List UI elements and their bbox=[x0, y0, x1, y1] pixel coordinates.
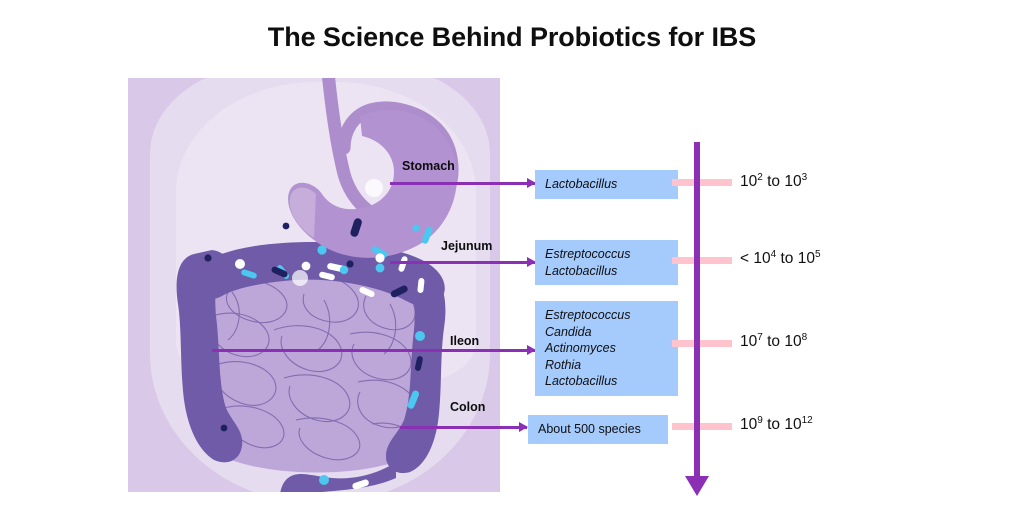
concentration-base: 10 bbox=[784, 333, 801, 350]
concentration-axis-line bbox=[694, 142, 700, 480]
species-name: Actinomyces bbox=[545, 340, 678, 357]
connector-line-stomach bbox=[672, 179, 732, 186]
species-box-ileon: Estreptococcus Candida Actinomyces Rothi… bbox=[535, 301, 678, 396]
concentration-value-stomach: 102 to 103 bbox=[740, 173, 807, 191]
page-title: The Science Behind Probiotics for IBS bbox=[0, 22, 1024, 53]
concentration-exponent: 12 bbox=[802, 415, 813, 426]
species-name: Lactobacillus bbox=[545, 176, 678, 193]
organ-label-ileon: Ileon bbox=[450, 334, 479, 348]
concentration-base: 10 bbox=[740, 173, 757, 190]
organ-label-colon: Colon bbox=[450, 400, 485, 414]
species-box-stomach: Lactobacillus bbox=[535, 170, 678, 199]
organ-label-jejunum: Jejunum bbox=[441, 239, 492, 253]
pointer-arrow-jejunum bbox=[390, 261, 535, 264]
species-name: Estreptococcus bbox=[545, 307, 678, 324]
species-name: Rothia bbox=[545, 357, 678, 374]
concentration-base: 10 bbox=[740, 333, 757, 350]
pointer-arrow-ileon bbox=[212, 349, 535, 352]
species-count-label: About 500 species bbox=[538, 421, 668, 438]
concentration-conjunction: to bbox=[763, 173, 785, 190]
organs-svg bbox=[128, 78, 500, 492]
concentration-exponent: 3 bbox=[802, 172, 808, 183]
species-name: Lactobacillus bbox=[545, 373, 678, 390]
species-box-colon: About 500 species bbox=[528, 415, 668, 444]
concentration-base: 10 bbox=[784, 416, 801, 433]
pointer-arrow-colon bbox=[400, 426, 527, 429]
concentration-value-colon: 109 to 1012 bbox=[740, 416, 813, 434]
connector-line-ileon bbox=[672, 340, 732, 347]
pointer-arrow-stomach bbox=[390, 182, 535, 185]
concentration-exponent: 5 bbox=[815, 249, 821, 260]
concentration-base: 10 bbox=[740, 416, 757, 433]
concentration-base: 10 bbox=[784, 173, 801, 190]
connector-line-jejunum bbox=[672, 257, 732, 264]
concentration-value-ileon: 107 to 108 bbox=[740, 333, 807, 351]
species-name: Lactobacillus bbox=[545, 263, 678, 280]
concentration-base: 10 bbox=[753, 250, 770, 267]
species-name: Candida bbox=[545, 324, 678, 341]
concentration-value-jejunum: < 104 to 105 bbox=[740, 250, 821, 268]
concentration-axis-arrowhead bbox=[685, 476, 709, 496]
digestive-system-illustration bbox=[128, 78, 500, 492]
species-box-jejunum: Estreptococcus Lactobacillus bbox=[535, 240, 678, 285]
concentration-conjunction: to bbox=[763, 333, 785, 350]
concentration-exponent: 8 bbox=[802, 332, 808, 343]
concentration-conjunction: to bbox=[763, 416, 785, 433]
concentration-conjunction: to bbox=[776, 250, 798, 267]
organ-label-stomach: Stomach bbox=[402, 159, 455, 173]
concentration-prefix: < bbox=[740, 250, 753, 267]
connector-line-colon bbox=[672, 423, 732, 430]
concentration-base: 10 bbox=[798, 250, 815, 267]
species-name: Estreptococcus bbox=[545, 246, 678, 263]
